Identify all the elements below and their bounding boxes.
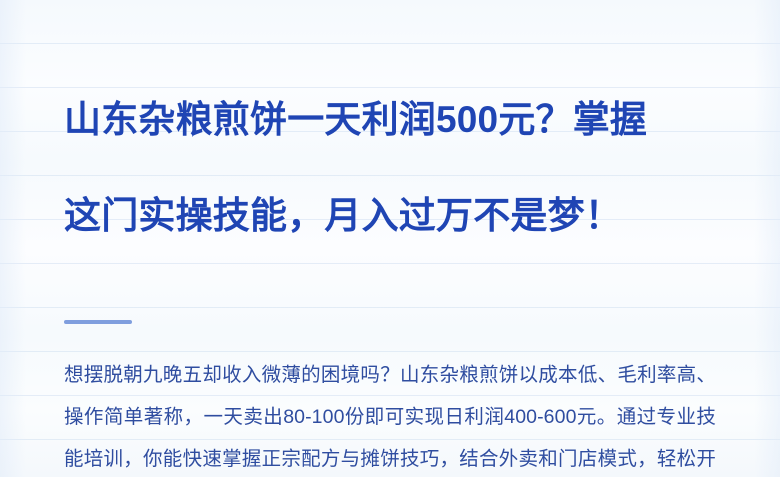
article-page: 山东杂粮煎饼一天利润500元？掌握 这门实操技能，月入过万不是梦！ 想摆脱朝九晚… — [0, 0, 780, 477]
article-content: 山东杂粮煎饼一天利润500元？掌握 这门实操技能，月入过万不是梦！ 想摆脱朝九晚… — [0, 0, 780, 477]
article-body-paragraph: 想摆脱朝九晚五却收入微薄的困境吗？山东杂粮煎饼以成本低、毛利率高、操作简单著称，… — [64, 324, 716, 477]
page-title-line-1: 山东杂粮煎饼一天利润500元？掌握 — [64, 96, 716, 144]
page-title: 山东杂粮煎饼一天利润500元？掌握 这门实操技能，月入过万不是梦！ — [64, 0, 716, 288]
page-title-line-2: 这门实操技能，月入过万不是梦！ — [64, 192, 716, 240]
